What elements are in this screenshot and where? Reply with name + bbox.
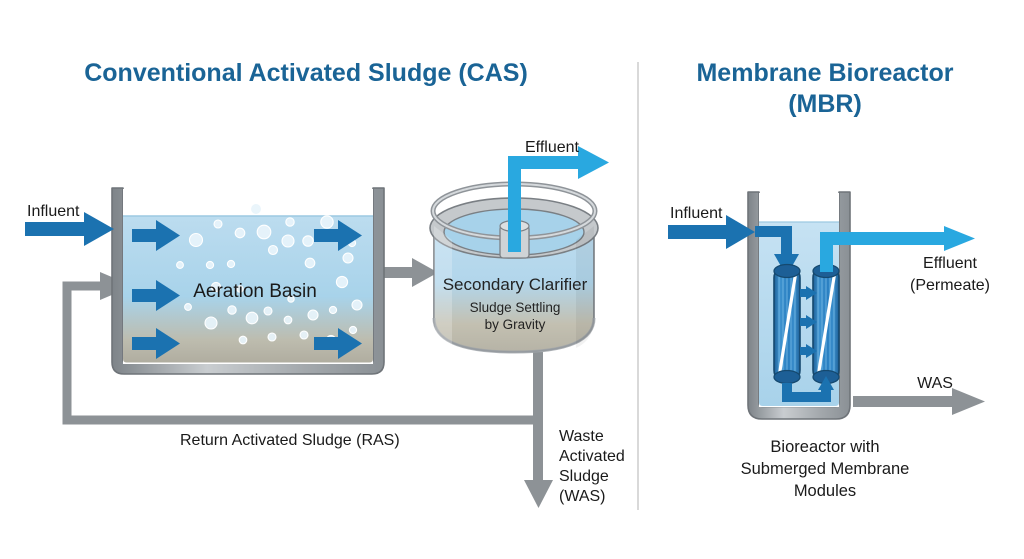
mbr-caption-line1: Bioreactor with	[770, 438, 879, 456]
mbr-caption-line3: Modules	[794, 482, 856, 500]
ras-label: Return Activated Sludge (RAS)	[180, 432, 400, 449]
was-label-line4: (WAS)	[559, 488, 606, 505]
was-label-line3: Sludge	[559, 468, 609, 485]
mixed-liquor-arrow	[382, 258, 438, 287]
was-label-line1: Waste	[559, 428, 604, 445]
cas-influent-label: Influent	[27, 203, 80, 220]
mbr-was-label: WAS	[917, 375, 953, 392]
mbr-effluent-label-line1: Effluent	[923, 255, 978, 272]
diagram-canvas: Conventional Activated Sludge (CAS) Memb…	[0, 0, 1024, 559]
cas-effluent-label: Effluent	[525, 139, 580, 156]
mbr-caption-line2: Submerged Membrane	[741, 460, 910, 478]
mbr-panel-title-line1: Membrane Bioreactor	[696, 59, 953, 87]
membrane-module-left	[774, 265, 800, 384]
wastewater-treatment-comparison-diagram: Conventional Activated Sludge (CAS) Memb…	[0, 0, 1024, 559]
secondary-clarifier-label: Secondary Clarifier	[443, 275, 588, 294]
mbr-influent-label: Influent	[670, 205, 723, 222]
mbr-effluent-label-line2: (Permeate)	[910, 277, 990, 294]
was-arrow-cas	[524, 352, 553, 508]
clarifier-subtitle-line2: by Gravity	[485, 317, 546, 332]
aeration-basin-label: Aeration Basin	[193, 281, 317, 302]
clarifier-subtitle-line1: Sludge Settling	[470, 300, 561, 315]
mbr-panel-title-line2: (MBR)	[788, 90, 862, 118]
membrane-module-right	[813, 265, 839, 384]
cas-panel-title: Conventional Activated Sludge (CAS)	[84, 59, 528, 87]
was-label-line2: Activated	[559, 448, 625, 465]
was-arrow-mbr	[853, 388, 985, 415]
